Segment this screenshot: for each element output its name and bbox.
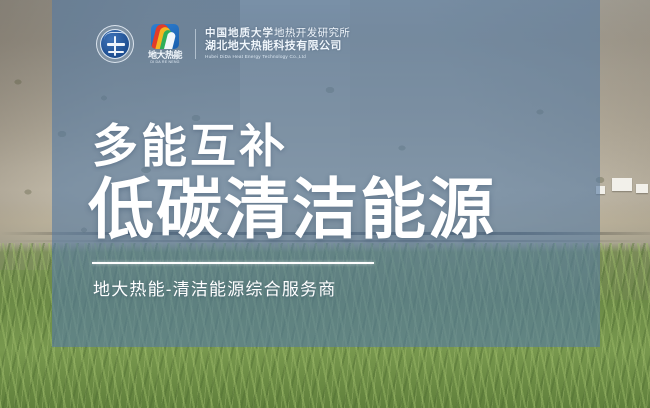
promo-banner: 地大热能 DI DA RE NENG 中国地质大学地热开发研究所 湖北地大热能科… (0, 0, 650, 408)
dida-rainbow-logo-icon: 地大热能 DI DA RE NENG (142, 24, 188, 65)
brandmark-pinyin-label: DI DA RE NENG (142, 60, 188, 65)
hero-divider-rule (92, 262, 374, 264)
hero-kicker: 多能互补 (92, 120, 288, 172)
org-line-3-english: Hubei DiDa Heat Energy Technology Co.,Lt… (205, 53, 350, 61)
institute-name: 地热开发研究所 (274, 27, 350, 39)
org-line-2: 湖北地大热能科技有限公司 (205, 40, 350, 53)
hillside-building (636, 184, 648, 193)
university-seal-icon (96, 25, 134, 63)
logo-divider (195, 29, 196, 59)
university-name: 中国地质大学 (205, 27, 274, 39)
brandmark-chinese-label: 地大热能 (142, 50, 188, 60)
org-line-1: 中国地质大学地热开发研究所 (205, 27, 350, 40)
organisation-names: 中国地质大学地热开发研究所 湖北地大热能科技有限公司 Hubei DiDa He… (205, 27, 350, 61)
hero-tagline: 地大热能-清洁能源综合服务商 (93, 278, 336, 302)
hillside-building (612, 178, 632, 191)
brand-lockup: 地大热能 DI DA RE NENG 中国地质大学地热开发研究所 湖北地大热能科… (96, 23, 350, 65)
hero-headline: 低碳清洁能源 (88, 172, 496, 246)
